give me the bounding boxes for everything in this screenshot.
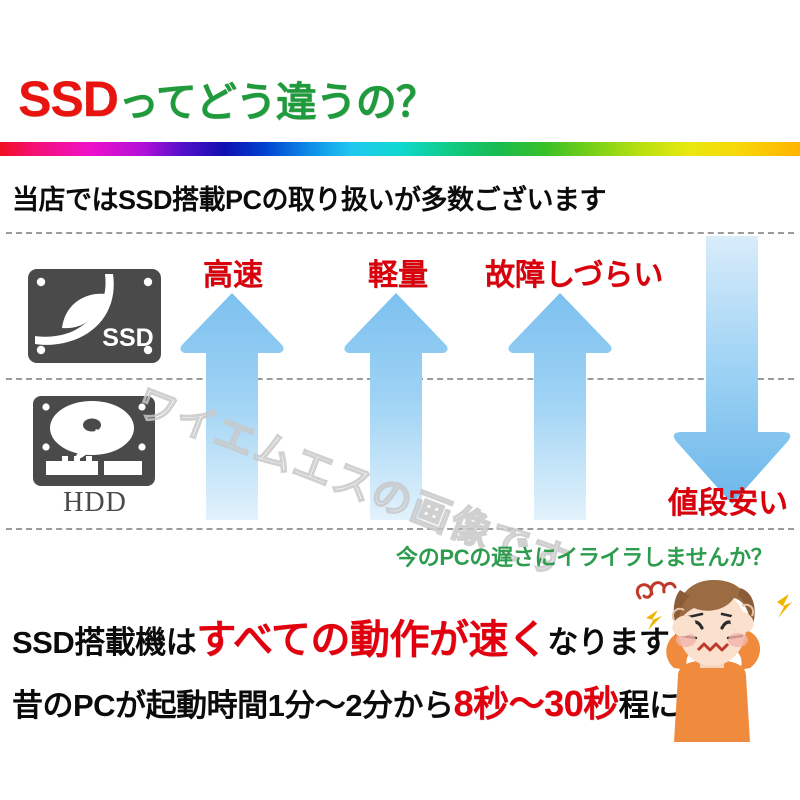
green-question-text: 今のPCの遅さにイライラしませんか？	[396, 540, 773, 572]
anger-squiggle-icon	[637, 583, 675, 598]
bottom-line-2-part-1: 昔のPCが起動時間1分〜2分から	[12, 688, 454, 723]
dashed-divider-bottom	[6, 528, 794, 530]
arrow-down-price	[670, 236, 794, 506]
rainbow-divider	[0, 142, 800, 156]
anger-bolt-right-icon	[777, 594, 792, 618]
dashed-divider-top	[6, 232, 794, 234]
ssd-drive-icon: SSD	[27, 268, 162, 364]
page-title-highlight: SSD	[18, 71, 118, 127]
ssd-icon-label: SSD	[102, 324, 153, 352]
frustrated-person-illustration	[622, 570, 800, 755]
hdd-caption: HDD	[30, 487, 160, 519]
bottom-line-1: SSD搭載機はすべての動作が速くなります！	[12, 607, 700, 665]
bottom-line-1-part-1: SSD搭載機は	[12, 625, 196, 660]
page-title: SSDってどう違うの？	[18, 74, 436, 124]
subtitle-text: 当店ではSSD搭載PCの取り扱いが多数ございます	[12, 178, 606, 217]
hdd-drive-icon	[32, 395, 156, 487]
bottom-line-2-part-2: 8秒〜30秒	[454, 683, 619, 724]
arrow-up-speed	[178, 291, 286, 520]
label-price: 値段安い	[668, 478, 788, 522]
arrow-up-reliability	[506, 291, 614, 520]
page-title-rest: ってどう違うの？	[118, 79, 436, 125]
bottom-line-1-part-2: すべての動作が速く	[196, 618, 547, 662]
label-reliability: 故障しづらい	[485, 250, 663, 294]
infographic-canvas: SSDってどう違うの？ 当店ではSSD搭載PCの取り扱いが多数ございます SSD	[0, 0, 800, 800]
bottom-line-2: 昔のPCが起動時間1分〜2分から8秒〜30秒程に	[12, 675, 680, 727]
label-speed: 高速	[203, 250, 263, 294]
anger-bolt-left-icon	[646, 610, 662, 630]
arrow-up-weight	[342, 291, 450, 520]
label-weight: 軽量	[368, 250, 428, 294]
